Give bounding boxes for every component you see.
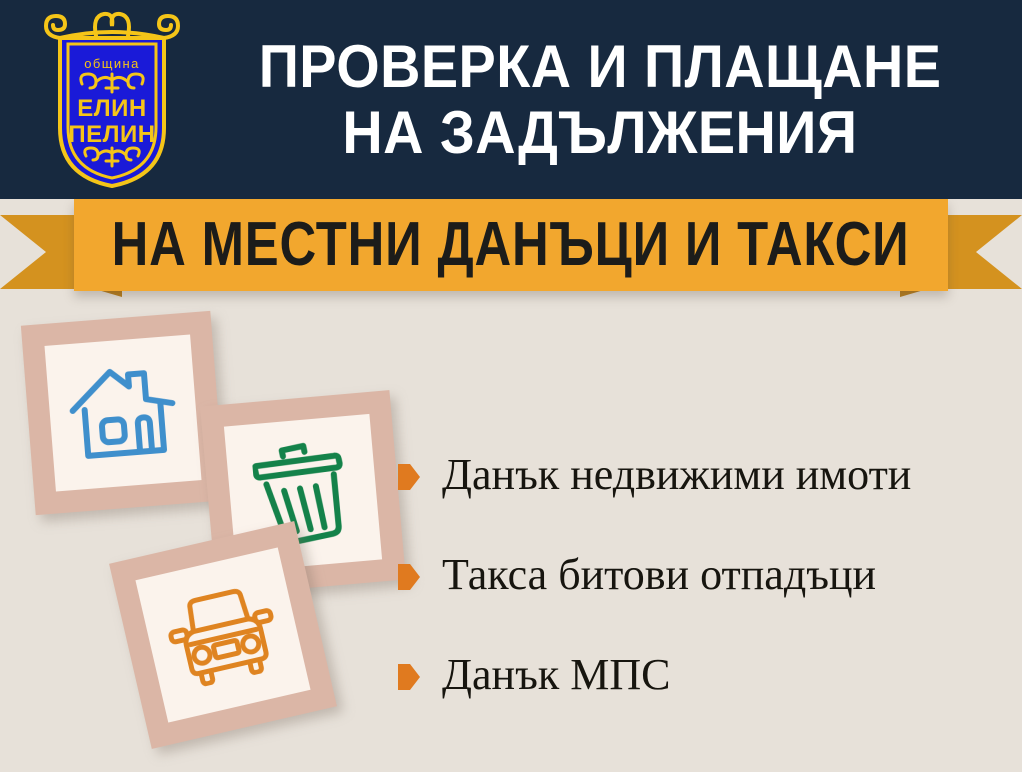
ribbon-label: НА МЕСТНИ ДАНЪЦИ И ТАКСИ	[112, 214, 910, 276]
page-title-line-1: ПРОВЕРКА И ПЛАЩАНЕ	[259, 34, 942, 100]
page-title-line-2: НА ЗАДЪЛЖЕНИЯ	[342, 100, 857, 166]
page-title: ПРОВЕРКА И ПЛАЩАНЕ НА ЗАДЪЛЖЕНИЯ	[190, 16, 1010, 184]
svg-text:ЕЛИН: ЕЛИН	[77, 95, 146, 122]
arrow-bullet-icon	[398, 664, 420, 690]
stamp-card-property	[21, 311, 225, 515]
list-item: Данък МПС	[398, 625, 1008, 725]
car-icon	[158, 578, 288, 693]
page-header: община ЕЛИН ПЕЛИН ПРОВЕРКА И ПЛАЩ	[0, 0, 1022, 199]
arrow-bullet-icon	[398, 564, 420, 590]
municipality-logo: община ЕЛИН ПЕЛИН	[38, 8, 186, 190]
list-item-label: Данък МПС	[442, 651, 670, 699]
list-item-label: Такса битови отпадъци	[442, 551, 876, 599]
list-item: Данък недвижими имоти	[398, 425, 1008, 525]
list-item-label: Данък недвижими имоти	[442, 451, 911, 499]
stamp-paper-property	[44, 334, 201, 491]
svg-text:община: община	[84, 56, 139, 71]
list-item: Такса битови отпадъци	[398, 525, 1008, 625]
arrow-bullet-icon	[398, 464, 420, 490]
svg-text:ПЕЛИН: ПЕЛИН	[68, 121, 155, 148]
tax-type-list: Данък недвижими имоти Такса битови отпад…	[398, 425, 1008, 725]
ribbon-banner: НА МЕСТНИ ДАНЪЦИ И ТАКСИ	[74, 199, 948, 291]
house-icon	[65, 359, 181, 467]
subtitle-ribbon: НА МЕСТНИ ДАНЪЦИ И ТАКСИ	[0, 199, 1022, 305]
